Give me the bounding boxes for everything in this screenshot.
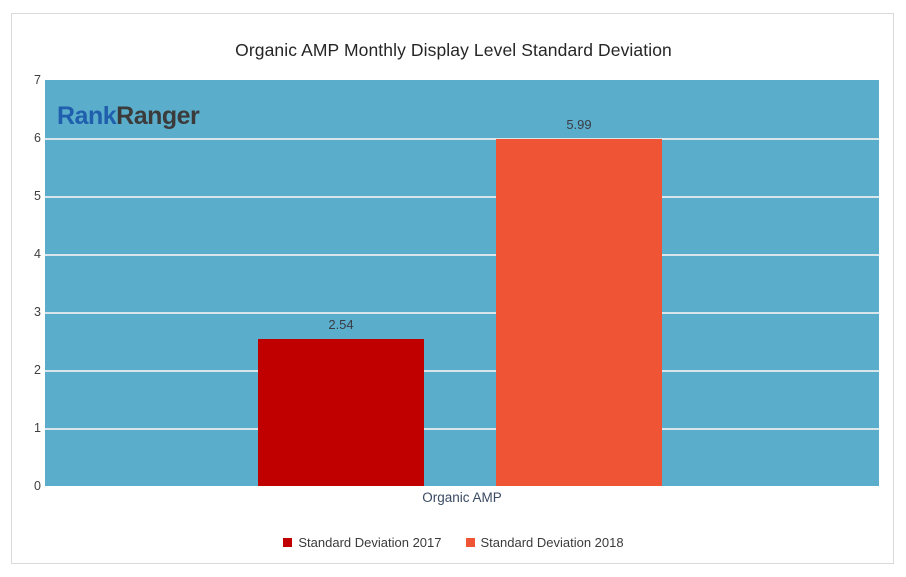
y-axis-tick: 1 — [15, 421, 41, 435]
y-axis-tick: 4 — [15, 247, 41, 261]
bar-standard-deviation-2017[interactable]: 2.54 — [258, 339, 424, 486]
watermark-part-two: Ranger — [116, 102, 199, 130]
y-axis-tick: 6 — [15, 131, 41, 145]
legend-label: Standard Deviation 2017 — [298, 535, 441, 550]
chart-card: Organic AMP Monthly Display Level Standa… — [11, 13, 894, 564]
y-axis-tick: 7 — [15, 73, 41, 87]
rankranger-watermark: RankRanger — [57, 102, 199, 131]
bar-value-label: 2.54 — [258, 317, 424, 332]
chart-title: Organic AMP Monthly Display Level Standa… — [12, 40, 895, 61]
y-axis-tick: 0 — [15, 479, 41, 493]
legend-swatch-icon — [466, 538, 475, 547]
gridline — [45, 196, 879, 198]
watermark-part-one: Rank — [57, 102, 116, 130]
bar-value-label: 5.99 — [496, 117, 662, 132]
legend-item-2017[interactable]: Standard Deviation 2017 — [283, 535, 441, 550]
gridline — [45, 428, 879, 430]
gridline — [45, 370, 879, 372]
chart-legend: Standard Deviation 2017 Standard Deviati… — [12, 535, 895, 550]
legend-item-2018[interactable]: Standard Deviation 2018 — [466, 535, 624, 550]
legend-swatch-icon — [283, 538, 292, 547]
y-axis-tick: 5 — [15, 189, 41, 203]
y-axis: 7 6 5 4 3 2 1 0 — [12, 80, 41, 486]
gridline — [45, 138, 879, 140]
bar-standard-deviation-2018[interactable]: 5.99 — [496, 139, 662, 486]
legend-label: Standard Deviation 2018 — [481, 535, 624, 550]
x-axis-category-label: Organic AMP — [45, 490, 879, 505]
y-axis-tick: 3 — [15, 305, 41, 319]
gridline — [45, 312, 879, 314]
plot-area: RankRanger 2.54 5.99 — [45, 80, 879, 486]
gridline — [45, 254, 879, 256]
y-axis-tick: 2 — [15, 363, 41, 377]
